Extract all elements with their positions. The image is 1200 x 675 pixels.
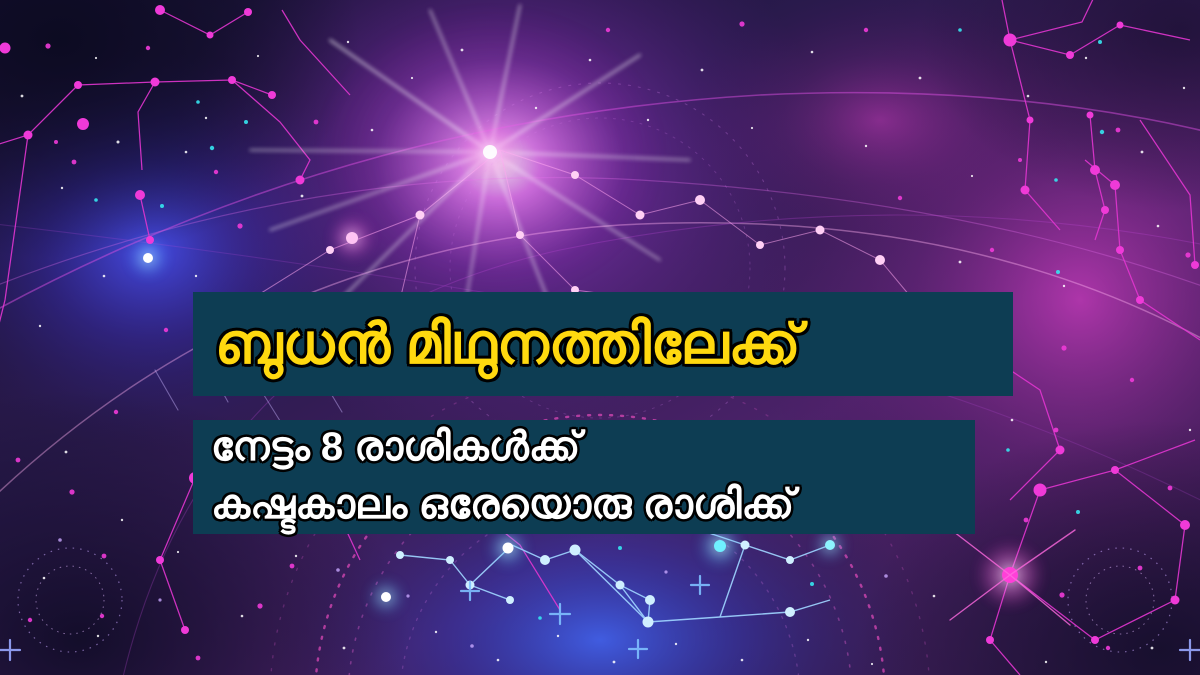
page-title: ബുധൻ മിഥുനത്തിലേക്ക് [215,316,991,372]
astrology-banner: ബുധൻ മിഥുനത്തിലേക്ക് നേട്ടം 8 രാശികൾക്ക്… [0,0,1200,675]
subtitle-band: നേട്ടം 8 രാശികൾക്ക് കഷ്ടകാലം ഒരേയൊരു രാശ… [193,420,975,534]
subtitle-line-1: നേട്ടം 8 രാശികൾക്ക് [211,419,957,476]
subtitle-line-2: കഷ്ടകാലം ഒരേയൊരു രാശിക്ക് [211,475,957,533]
title-band: ബുധൻ മിഥുനത്തിലേക്ക് [193,292,1013,396]
